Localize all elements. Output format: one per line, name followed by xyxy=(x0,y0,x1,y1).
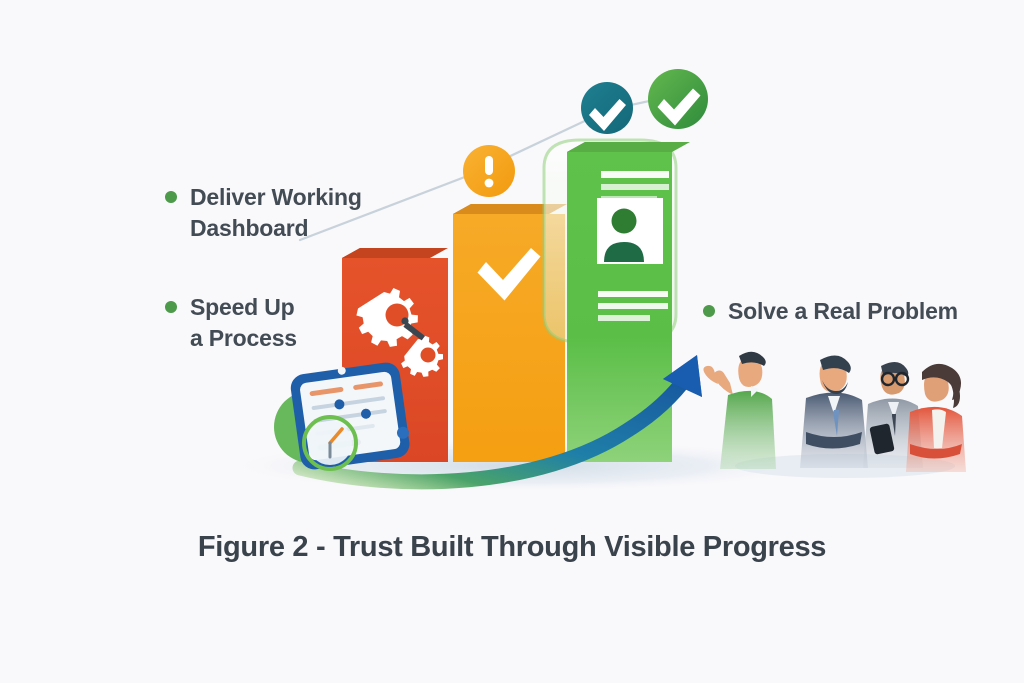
bar-solve-a-real-problem[interactable] xyxy=(567,142,690,462)
label-text: Solve a Real Problem xyxy=(728,296,958,327)
warning-badge[interactable] xyxy=(463,145,515,197)
check-badge-green[interactable] xyxy=(648,69,708,129)
person-red-blazer xyxy=(906,364,966,472)
figure-canvas: Deliver Working Dashboard Speed Up a Pro… xyxy=(0,0,1024,683)
infographic-illustration xyxy=(0,0,1024,683)
label-text: Speed Up a Process xyxy=(190,292,297,353)
bullet-dot-icon xyxy=(165,301,177,313)
bullet-dot-icon xyxy=(703,305,715,317)
label-text: Deliver Working Dashboard xyxy=(190,182,362,243)
check-badge-teal[interactable] xyxy=(581,82,633,134)
label-speed-up-a-process: Speed Up a Process xyxy=(165,292,405,353)
label-deliver-working-dashboard: Deliver Working Dashboard xyxy=(165,182,425,243)
team-illustration xyxy=(703,352,966,478)
person-navy-suit xyxy=(800,355,868,468)
figure-caption: Figure 2 - Trust Built Through Visible P… xyxy=(0,531,1024,564)
bullet-dot-icon xyxy=(165,191,177,203)
clock-icon xyxy=(304,417,356,469)
label-solve-a-real-problem: Solve a Real Problem xyxy=(703,296,1003,327)
clipboard-icon[interactable] xyxy=(274,359,412,471)
profile-card-icon xyxy=(597,198,663,264)
